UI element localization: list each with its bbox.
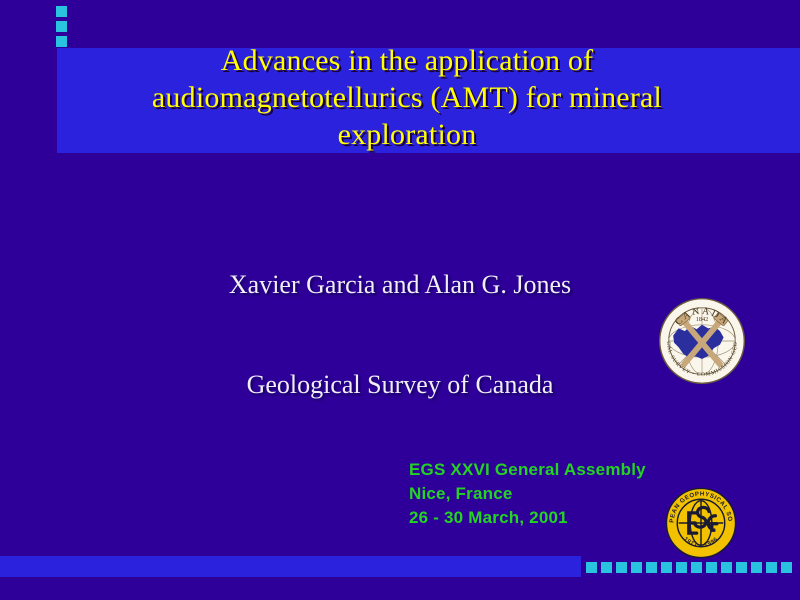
geological-survey-of-canada-logo: CANADA 1842 GEOLOGICAL SURVEY - COMMISSI… bbox=[657, 295, 747, 387]
decorative-square-icon bbox=[661, 562, 672, 573]
decorative-square-icon bbox=[676, 562, 687, 573]
decorative-square-icon bbox=[766, 562, 777, 573]
gsc-year-text: 1842 bbox=[696, 316, 709, 323]
conference-line-location: Nice, France bbox=[409, 482, 646, 506]
decorative-square-icon bbox=[751, 562, 762, 573]
conference-details: EGS XXVI General Assembly Nice, France 2… bbox=[409, 458, 646, 530]
conference-line-dates: 26 - 30 March, 2001 bbox=[409, 506, 646, 530]
decorative-square-icon bbox=[586, 562, 597, 573]
conference-line-assembly: EGS XXVI General Assembly bbox=[409, 458, 646, 482]
decorative-square-icon bbox=[601, 562, 612, 573]
presentation-slide: Advances in the application of audiomagn… bbox=[0, 0, 800, 600]
egs-logo-icon: EUROPEAN GEOPHYSICAL SOCIETY 1971 - 1996 bbox=[665, 487, 737, 559]
decorative-square-icon bbox=[736, 562, 747, 573]
slide-title: Advances in the application of audiomagn… bbox=[57, 42, 757, 153]
decorative-square-icon bbox=[631, 562, 642, 573]
decorative-square-icon bbox=[56, 6, 67, 17]
decorative-square-icon bbox=[56, 21, 67, 32]
decorative-square-icon bbox=[706, 562, 717, 573]
bottom-decorative-squares bbox=[586, 562, 800, 574]
decorative-square-icon bbox=[646, 562, 657, 573]
european-geophysical-society-logo: EUROPEAN GEOPHYSICAL SOCIETY 1971 - 1996 bbox=[665, 487, 737, 559]
decorative-square-icon bbox=[616, 562, 627, 573]
decorative-square-icon bbox=[691, 562, 702, 573]
decorative-square-icon bbox=[721, 562, 732, 573]
bottom-accent-bar bbox=[0, 556, 581, 577]
gsc-logo-icon: CANADA 1842 GEOLOGICAL SURVEY - COMMISSI… bbox=[657, 295, 747, 387]
decorative-square-icon bbox=[781, 562, 792, 573]
